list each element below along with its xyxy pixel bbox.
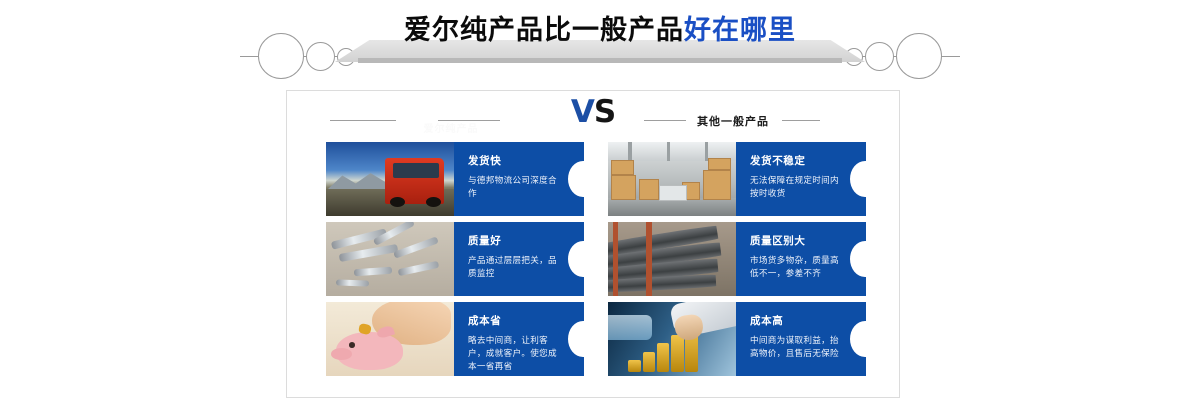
card-ours-3[interactable]: 成本省 略去中间商，让利客户，成就客户。使您成本一省再省 [326,302,584,376]
card-theirs-1-notch [850,161,866,197]
card-theirs-1[interactable]: 发货不稳定 无法保障在规定时间内按时收货 [608,142,866,216]
card-theirs-1-title: 发货不稳定 [750,153,840,168]
page-header: 爱尔纯产品比一般产品好在哪里 [0,0,1200,90]
vs-badge: VS [558,94,628,130]
card-ours-3-thumbnail [326,302,454,376]
column-label-ours: 爱尔纯产品 [386,120,516,135]
card-ours-3-title: 成本省 [468,313,558,328]
vs-letter-v: V [571,94,594,130]
card-theirs-1-desc: 无法保障在规定时间内按时收货 [750,175,840,201]
column-ours: 发货快 与德邦物流公司深度合作 质量好 产品通过层层把关，品质监控 成本省 [326,142,584,382]
vs-bar: 爱尔纯产品 其他一般产品 VS [286,96,900,140]
card-theirs-3-panel: 成本高 中间商为谋取利益，抬高物价，且售后无保险 [736,302,866,376]
card-ours-2-panel: 质量好 产品通过层层把关，品质监控 [454,222,584,296]
card-ours-2-thumbnail [326,222,454,296]
card-theirs-1-panel: 发货不稳定 无法保障在规定时间内按时收货 [736,142,866,216]
card-ours-3-desc: 略去中间商，让利客户，成就客户。使您成本一省再省 [468,335,558,374]
card-ours-3-panel: 成本省 略去中间商，让利客户，成就客户。使您成本一省再省 [454,302,584,376]
title-plaque-shadow [358,58,842,63]
card-theirs-2-thumbnail [608,222,736,296]
column-theirs: 发货不稳定 无法保障在规定时间内按时收货 质量区别大 市场货多物杂，质量高低不一… [608,142,866,382]
card-theirs-3[interactable]: 成本高 中间商为谋取利益，抬高物价，且售后无保险 [608,302,866,376]
warehouse-with-cardboard-boxes-photo [608,142,736,216]
card-ours-1-panel: 发货快 与德邦物流公司深度合作 [454,142,584,216]
stacked-gray-steel-pipes-photo [608,222,736,296]
column-label-theirs: 其他一般产品 [678,113,788,129]
card-theirs-3-thumbnail [608,302,736,376]
card-ours-3-notch [568,321,584,357]
card-ours-1-notch [568,161,584,197]
card-ours-2[interactable]: 质量好 产品通过层层把关，品质监控 [326,222,584,296]
card-theirs-3-title: 成本高 [750,313,840,328]
hand-putting-coin-in-piggy-bank-photo [326,302,454,376]
card-ours-1-title: 发货快 [468,153,558,168]
page-title-main: 爱尔纯产品比一般产品 [404,15,684,46]
card-theirs-2[interactable]: 质量区别大 市场货多物杂，质量高低不一，参差不齐 [608,222,866,296]
card-theirs-2-desc: 市场货多物杂，质量高低不一，参差不齐 [750,255,840,281]
card-theirs-2-title: 质量区别大 [750,233,840,248]
card-ours-2-title: 质量好 [468,233,558,248]
card-theirs-2-panel: 质量区别大 市场货多物杂，质量高低不一，参差不齐 [736,222,866,296]
hand-stacking-gold-coins-photo [608,302,736,376]
page-title: 爱尔纯产品比一般产品好在哪里 [0,8,1200,47]
card-theirs-3-notch [850,321,866,357]
card-ours-1-desc: 与德邦物流公司深度合作 [468,175,558,201]
card-ours-1-thumbnail [326,142,454,216]
vs-letter-s: S [594,94,615,130]
card-theirs-2-notch [850,241,866,277]
card-ours-2-notch [568,241,584,277]
stainless-steel-filter-housings-photo [326,222,454,296]
card-ours-2-desc: 产品通过层层把关，品质监控 [468,255,558,281]
red-truck-on-highway-photo [326,142,454,216]
card-theirs-1-thumbnail [608,142,736,216]
card-ours-1[interactable]: 发货快 与德邦物流公司深度合作 [326,142,584,216]
page-title-highlight: 好在哪里 [684,15,796,46]
card-theirs-3-desc: 中间商为谋取利益，抬高物价，且售后无保险 [750,335,840,361]
